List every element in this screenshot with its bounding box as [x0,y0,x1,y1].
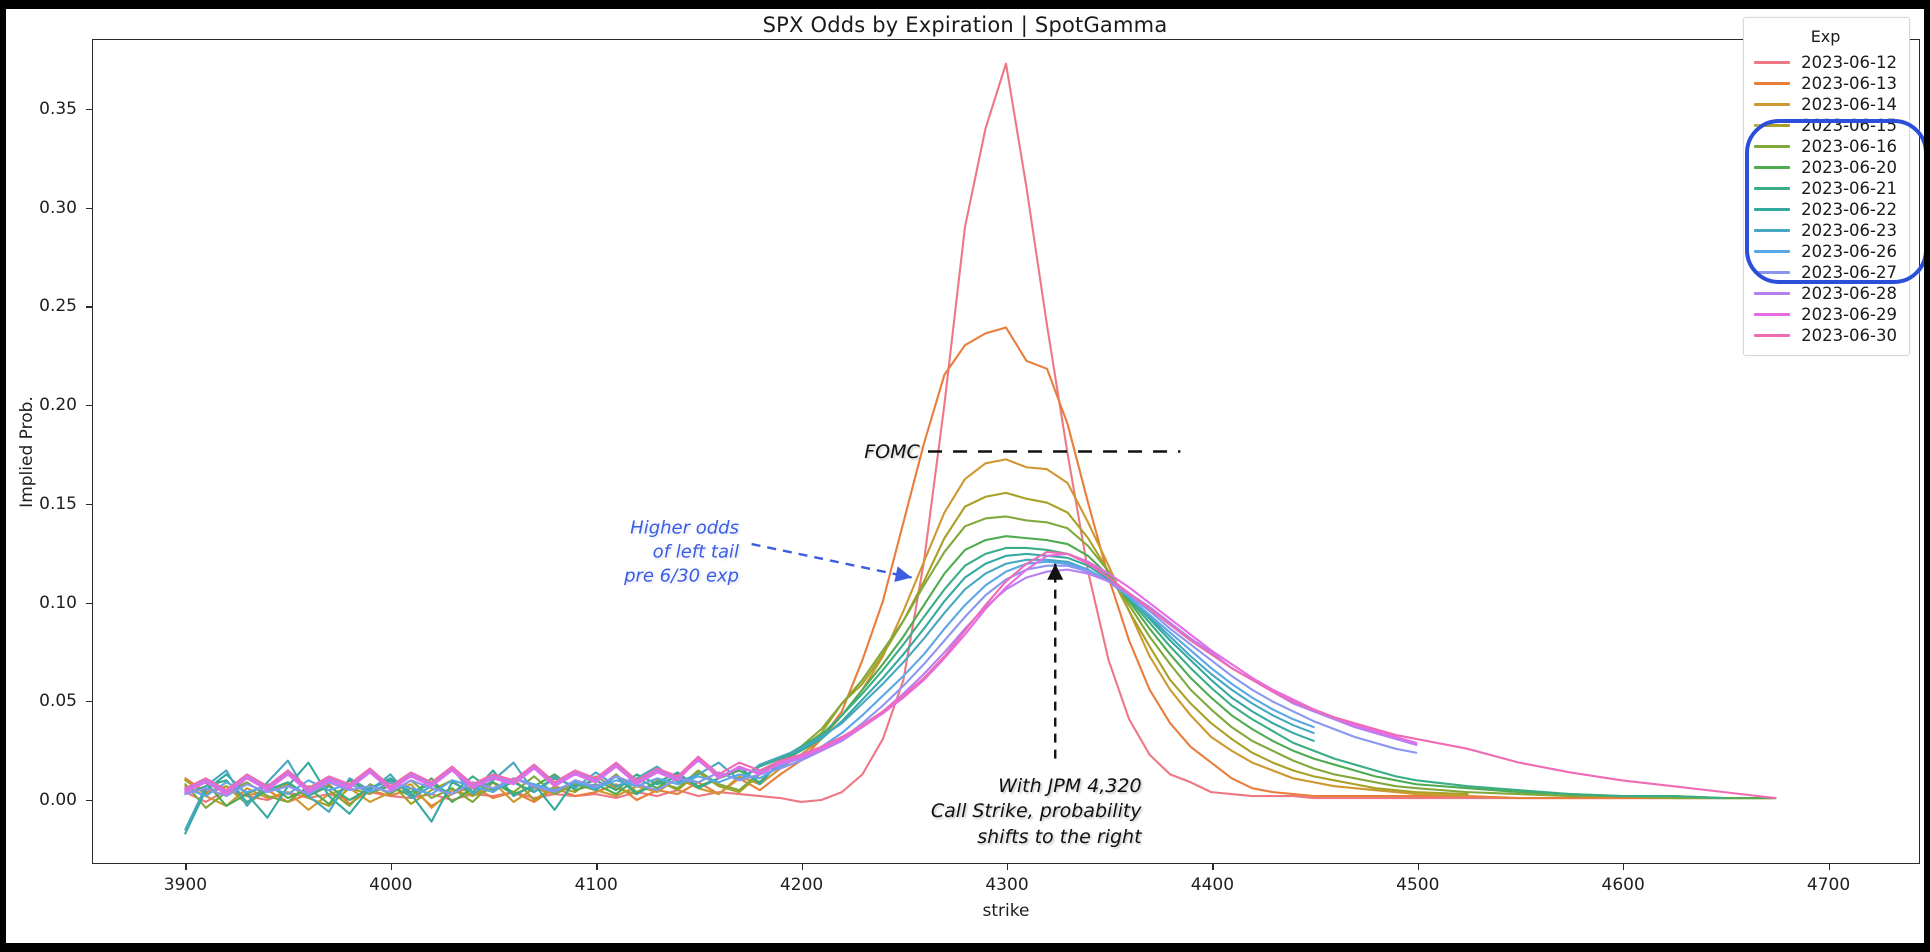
legend-title: Exp [1754,27,1897,46]
legend-item-label: 2023-06-12 [1801,53,1897,72]
x-axis-tick-mark [1623,863,1624,870]
annotation-jpm-strike: With JPM 4,320 Call Strike, probability … [931,774,1142,850]
x-axis-tick-mark [185,863,186,870]
y-axis-tick-mark [86,208,93,209]
legend-color-swatch-icon [1754,103,1790,106]
legend-color-swatch-icon [1754,187,1790,190]
legend-color-swatch-icon [1754,61,1790,64]
annotation-left-tail-line1: Higher odds [624,517,739,541]
x-axis-tick-label: 4600 [1602,875,1645,895]
legend-item-label: 2023-06-23 [1801,221,1897,240]
x-axis-tick-label: 4700 [1807,875,1850,895]
x-axis-label: strike [983,901,1030,921]
plot-axes: 0.000.050.100.150.200.250.300.35 3900400… [92,39,1920,864]
legend-color-swatch-icon [1754,166,1790,169]
x-axis-tick-mark [802,863,803,870]
legend-item-label: 2023-06-21 [1801,179,1897,198]
legend-item-2023-06-22[interactable]: 2023-06-22 [1754,199,1897,220]
y-axis-tick-label: 0.15 [0,494,77,514]
x-axis-tick-mark [1829,863,1830,870]
legend-color-swatch-icon [1754,208,1790,211]
legend-color-swatch-icon [1754,229,1790,232]
legend-item-2023-06-27[interactable]: 2023-06-27 [1754,262,1897,283]
annotation-fomc-label: FOMC [864,441,920,463]
matplotlib-figure: SPX Odds by Expiration | SpotGamma 0.000… [6,9,1924,943]
y-axis-tick-label: 0.35 [0,99,77,119]
x-axis-tick-label: 4300 [985,875,1028,895]
left-tail-arrow-head [894,566,911,582]
legend-item-2023-06-15[interactable]: 2023-06-15 [1754,115,1897,136]
y-axis-tick-mark [86,306,93,307]
legend-item-label: 2023-06-14 [1801,95,1897,114]
y-axis-tick-mark [86,504,93,505]
legend-item-label: 2023-06-26 [1801,242,1897,261]
x-axis-tick-mark [1418,863,1419,870]
x-axis-tick-label: 4100 [575,875,618,895]
legend-item-label: 2023-06-22 [1801,200,1897,219]
legend-color-swatch-icon [1754,271,1790,274]
legend-item-2023-06-21[interactable]: 2023-06-21 [1754,178,1897,199]
y-axis-tick-label: 0.10 [0,593,77,613]
x-axis-tick-label: 4200 [780,875,823,895]
legend-items: 2023-06-122023-06-132023-06-142023-06-15… [1754,52,1897,346]
y-axis-tick-label: 0.05 [0,691,77,711]
page-title: SPX Odds by Expiration | SpotGamma [6,13,1924,37]
series-line-2023-06-12 [185,64,1775,802]
legend-color-swatch-icon [1754,250,1790,253]
y-axis-tick-label: 0.25 [0,296,77,316]
legend-item-label: 2023-06-20 [1801,158,1897,177]
annotation-jpm-line2: Call Strike, probability [931,799,1142,824]
y-axis-tick-mark [86,405,93,406]
legend-item-2023-06-30[interactable]: 2023-06-30 [1754,325,1897,346]
legend-item-label: 2023-06-29 [1801,305,1897,324]
legend-item-2023-06-26[interactable]: 2023-06-26 [1754,241,1897,262]
legend-item-label: 2023-06-30 [1801,326,1897,345]
y-axis-tick-label: 0.30 [0,198,77,218]
y-axis-tick-label: 0.20 [0,395,77,415]
legend-color-swatch-icon [1754,82,1790,85]
legend-item-label: 2023-06-27 [1801,263,1897,282]
screenshot-root: SPX Odds by Expiration | SpotGamma 0.000… [0,0,1930,952]
x-axis-tick-label: 4500 [1396,875,1439,895]
legend-item-2023-06-20[interactable]: 2023-06-20 [1754,157,1897,178]
legend-item-2023-06-12[interactable]: 2023-06-12 [1754,52,1897,73]
annotation-left-tail-line3: pre 6/30 exp [624,564,739,588]
x-axis-tick-label: 4400 [1191,875,1234,895]
y-axis-tick-mark [86,701,93,702]
y-axis-tick-mark [86,109,93,110]
legend-item-label: 2023-06-16 [1801,137,1897,156]
legend-item-2023-06-14[interactable]: 2023-06-14 [1754,94,1897,115]
legend-item-label: 2023-06-13 [1801,74,1897,93]
left-tail-arrow-shaft [752,544,912,577]
series-group [185,64,1775,834]
annotation-left-tail: Higher odds of left tail pre 6/30 exp [624,517,739,588]
legend-item-2023-06-13[interactable]: 2023-06-13 [1754,73,1897,94]
legend-color-swatch-icon [1754,145,1790,148]
series-line-2023-06-27 [185,566,1416,796]
legend-color-swatch-icon [1754,334,1790,337]
legend-item-label: 2023-06-15 [1801,116,1897,135]
legend-item-2023-06-16[interactable]: 2023-06-16 [1754,136,1897,157]
legend[interactable]: Exp 2023-06-122023-06-132023-06-142023-0… [1743,17,1910,356]
x-axis-tick-mark [391,863,392,870]
x-axis-tick-mark [1007,863,1008,870]
legend-color-swatch-icon [1754,124,1790,127]
series-line-2023-06-15 [185,493,1467,806]
legend-color-swatch-icon [1754,292,1790,295]
legend-item-2023-06-29[interactable]: 2023-06-29 [1754,304,1897,325]
annotation-jpm-line3: shifts to the right [931,824,1142,849]
y-axis-tick-label: 0.00 [0,790,77,810]
plot-canvas [93,40,1919,863]
legend-item-label: 2023-06-28 [1801,284,1897,303]
annotation-jpm-line1: With JPM 4,320 [931,774,1142,799]
x-axis-tick-mark [596,863,597,870]
x-axis-tick-label: 4000 [369,875,412,895]
series-line-2023-06-30 [185,552,1775,798]
series-line-2023-06-28 [185,570,1416,792]
y-axis-tick-mark [86,603,93,604]
annotation-left-tail-line2: of left tail [624,540,739,564]
x-axis-tick-mark [1212,863,1213,870]
series-line-2023-06-21 [185,548,1724,802]
series-line-2023-06-14 [185,459,1467,809]
y-axis-label: Implied Prob. [17,396,37,508]
y-axis-tick-mark [86,800,93,801]
legend-item-2023-06-23[interactable]: 2023-06-23 [1754,220,1897,241]
legend-item-2023-06-28[interactable]: 2023-06-28 [1754,283,1897,304]
legend-color-swatch-icon [1754,313,1790,316]
x-axis-tick-label: 3900 [164,875,207,895]
series-line-2023-06-16 [185,516,1775,807]
